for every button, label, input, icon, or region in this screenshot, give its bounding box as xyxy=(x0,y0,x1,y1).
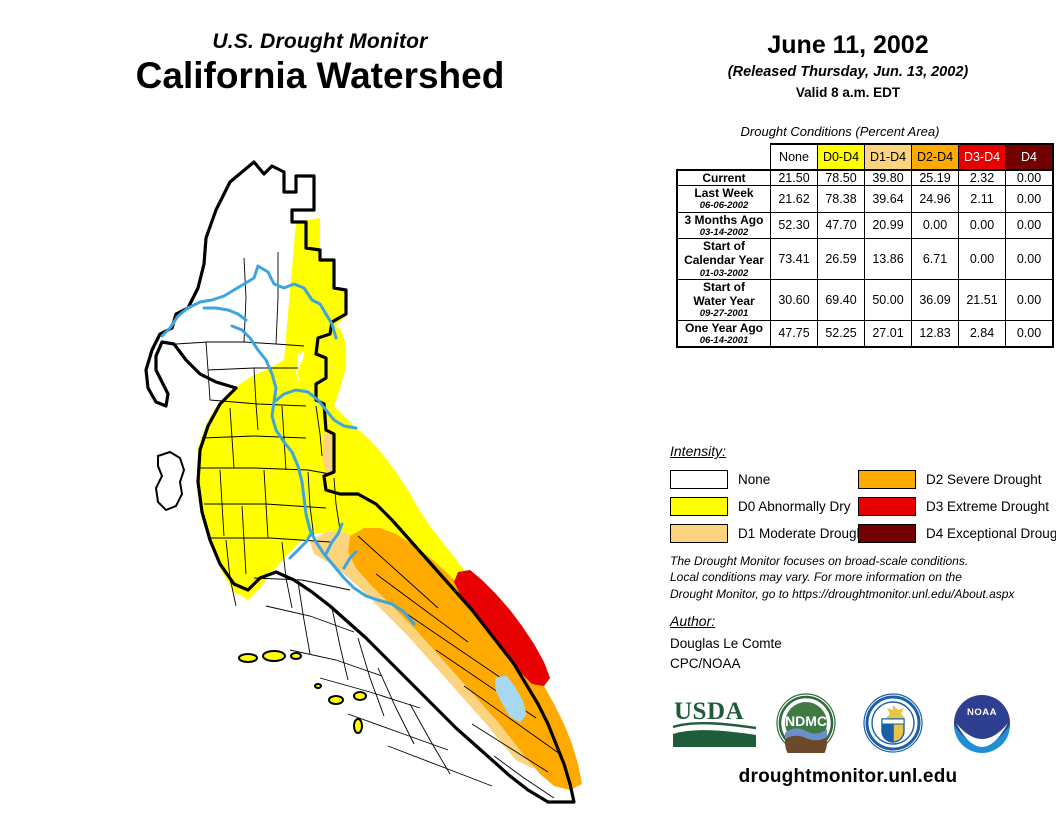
legend-label: D1 Moderate Drought xyxy=(738,526,868,541)
cell-none: 21.62 xyxy=(771,186,818,213)
row-label-name: Start ofCalendar Year xyxy=(678,239,770,267)
region-d2 xyxy=(348,528,582,790)
table-row: Last Week06-06-200221.6278.3839.6424.962… xyxy=(677,186,1053,213)
table-header-d4: D4 xyxy=(1006,144,1054,170)
cell-d0-d4: 52.25 xyxy=(818,320,865,347)
legend-column-right: D2 Severe DroughtD3 Extreme DroughtD4 Ex… xyxy=(858,467,1056,548)
row-label: Current xyxy=(677,170,771,186)
cell-d0-d4: 78.38 xyxy=(818,186,865,213)
footnote-line-3: Drought Monitor, go to https://droughtmo… xyxy=(670,586,1056,602)
table-row: Start ofWater Year09-27-200130.6069.4050… xyxy=(677,279,1053,320)
table-row: One Year Ago06-14-200147.7552.2527.0112.… xyxy=(677,320,1053,347)
page-title: California Watershed xyxy=(0,55,640,96)
cell-d2-d4: 12.83 xyxy=(912,320,959,347)
cell-d1-d4: 39.80 xyxy=(865,170,912,186)
row-label-date: 01-03-2002 xyxy=(678,268,770,279)
cell-d0-d4: 47.70 xyxy=(818,212,865,239)
cell-d4: 0.00 xyxy=(1006,320,1054,347)
legend-label: D0 Abnormally Dry xyxy=(738,499,851,514)
cell-d1-d4: 27.01 xyxy=(865,320,912,347)
table-row: Current21.5078.5039.8025.192.320.00 xyxy=(677,170,1053,186)
cell-none: 30.60 xyxy=(771,279,818,320)
cell-d2-d4: 24.96 xyxy=(912,186,959,213)
table-header-none: None xyxy=(771,144,818,170)
row-label: One Year Ago06-14-2001 xyxy=(677,320,771,347)
row-label: Last Week06-06-2002 xyxy=(677,186,771,213)
cell-d0-d4: 26.59 xyxy=(818,239,865,280)
legend-swatch xyxy=(670,470,728,489)
usda-logo: USDA xyxy=(670,693,760,758)
cell-none: 73.41 xyxy=(771,239,818,280)
legend-swatch xyxy=(858,524,916,543)
row-label-date: 03-14-2002 xyxy=(678,227,770,238)
footnote-line-1: The Drought Monitor focuses on broad-sca… xyxy=(670,553,1056,569)
row-label: Start ofWater Year09-27-2001 xyxy=(677,279,771,320)
cell-d2-d4: 36.09 xyxy=(912,279,959,320)
cell-d3-d4: 2.11 xyxy=(959,186,1006,213)
legend-label: D4 Exceptional Drought xyxy=(926,526,1056,541)
table-body: Current21.5078.5039.8025.192.320.00Last … xyxy=(677,170,1053,347)
legend-swatch xyxy=(858,470,916,489)
table-caption: Drought Conditions (Percent Area) xyxy=(640,124,1040,139)
report-date: June 11, 2002 xyxy=(640,32,1056,60)
ndmc-logo: NDMC xyxy=(775,693,837,758)
footnote-line-2: Local conditions may vary. For more info… xyxy=(670,569,1056,585)
svg-text:NOAA: NOAA xyxy=(967,707,997,718)
row-label-name: One Year Ago xyxy=(678,321,770,335)
legend-item: D4 Exceptional Drought xyxy=(858,521,1056,545)
cell-d4: 0.00 xyxy=(1006,170,1054,186)
cell-d0-d4: 69.40 xyxy=(818,279,865,320)
author-name: Douglas Le Comte xyxy=(670,634,782,654)
usdoc-seal xyxy=(858,693,928,758)
cell-d4: 0.00 xyxy=(1006,212,1054,239)
legend-item: D2 Severe Drought xyxy=(858,467,1056,491)
cell-d4: 0.00 xyxy=(1006,279,1054,320)
cell-d3-d4: 0.00 xyxy=(959,212,1006,239)
drought-map[interactable] xyxy=(58,138,624,804)
intensity-heading: Intensity: xyxy=(670,443,726,459)
legend-swatch xyxy=(670,524,728,543)
cell-d2-d4: 6.71 xyxy=(912,239,959,280)
footnote: The Drought Monitor focuses on broad-sca… xyxy=(670,553,1056,602)
logo-row: USDA NDMC xyxy=(660,693,1050,755)
legend-item: D3 Extreme Drought xyxy=(858,494,1056,518)
legend-column-left: NoneD0 Abnormally DryD1 Moderate Drought xyxy=(670,467,868,548)
legend-label: D3 Extreme Drought xyxy=(926,499,1049,514)
table-header-d3-d4: D3-D4 xyxy=(959,144,1006,170)
site-url: droughtmonitor.unl.edu xyxy=(640,766,1056,788)
page-subtitle: U.S. Drought Monitor xyxy=(0,30,640,53)
row-label-name: 3 Months Ago xyxy=(678,213,770,227)
cell-none: 52.30 xyxy=(771,212,818,239)
cell-none: 21.50 xyxy=(771,170,818,186)
title-block: U.S. Drought Monitor California Watershe… xyxy=(0,30,640,97)
legend-item: D0 Abnormally Dry xyxy=(670,494,868,518)
cell-d3-d4: 2.84 xyxy=(959,320,1006,347)
table-header-d1-d4: D1-D4 xyxy=(865,144,912,170)
row-label: Start ofCalendar Year01-03-2002 xyxy=(677,239,771,280)
info-panel: June 11, 2002 (Released Thursday, Jun. 1… xyxy=(640,0,1056,816)
row-label-date: 06-14-2001 xyxy=(678,335,770,346)
row-label-name: Start ofWater Year xyxy=(678,280,770,308)
row-label-date: 06-06-2002 xyxy=(678,200,770,211)
table-row: 3 Months Ago03-14-200252.3047.7020.990.0… xyxy=(677,212,1053,239)
release-date: (Released Thursday, Jun. 13, 2002) xyxy=(640,64,1056,80)
cell-d3-d4: 21.51 xyxy=(959,279,1006,320)
map-svg xyxy=(58,138,624,804)
cell-d1-d4: 13.86 xyxy=(865,239,912,280)
cell-d4: 0.00 xyxy=(1006,186,1054,213)
channel-islands xyxy=(239,651,366,733)
cell-d0-d4: 78.50 xyxy=(818,170,865,186)
legend-label: None xyxy=(738,472,770,487)
author-affiliation: CPC/NOAA xyxy=(670,654,782,674)
cell-d1-d4: 20.99 xyxy=(865,212,912,239)
cell-d4: 0.00 xyxy=(1006,239,1054,280)
noaa-logo: NOAA xyxy=(950,693,1014,758)
cell-d2-d4: 25.19 xyxy=(912,170,959,186)
legend-item: D1 Moderate Drought xyxy=(670,521,868,545)
cell-d1-d4: 50.00 xyxy=(865,279,912,320)
table-header-d2-d4: D2-D4 xyxy=(912,144,959,170)
table-header-d0-d4: D0-D4 xyxy=(818,144,865,170)
legend-item: None xyxy=(670,467,868,491)
svg-text:USDA: USDA xyxy=(674,698,744,725)
row-label-date: 09-27-2001 xyxy=(678,308,770,319)
cell-none: 47.75 xyxy=(771,320,818,347)
author-block: Douglas Le Comte CPC/NOAA xyxy=(670,634,782,673)
sf-bay xyxy=(156,452,184,510)
legend-swatch xyxy=(858,497,916,516)
cell-d2-d4: 0.00 xyxy=(912,212,959,239)
row-label-name: Current xyxy=(678,171,770,185)
drought-conditions-table: NoneD0-D4D1-D4D2-D4D3-D4D4 Current21.507… xyxy=(676,143,1054,348)
table-header-row: NoneD0-D4D1-D4D2-D4D3-D4D4 xyxy=(677,144,1053,170)
cell-d3-d4: 0.00 xyxy=(959,239,1006,280)
map-panel: U.S. Drought Monitor California Watershe… xyxy=(0,0,640,816)
legend-label: D2 Severe Drought xyxy=(926,472,1042,487)
svg-text:NDMC: NDMC xyxy=(785,713,827,729)
legend-swatch xyxy=(670,497,728,516)
author-heading: Author: xyxy=(670,613,715,629)
row-label: 3 Months Ago03-14-2002 xyxy=(677,212,771,239)
table-corner-cell xyxy=(677,144,771,170)
cell-d1-d4: 39.64 xyxy=(865,186,912,213)
valid-time: Valid 8 a.m. EDT xyxy=(640,85,1056,100)
table-row: Start ofCalendar Year01-03-200273.4126.5… xyxy=(677,239,1053,280)
date-block: June 11, 2002 (Released Thursday, Jun. 1… xyxy=(640,32,1056,100)
row-label-name: Last Week xyxy=(678,186,770,200)
cell-d3-d4: 2.32 xyxy=(959,170,1006,186)
